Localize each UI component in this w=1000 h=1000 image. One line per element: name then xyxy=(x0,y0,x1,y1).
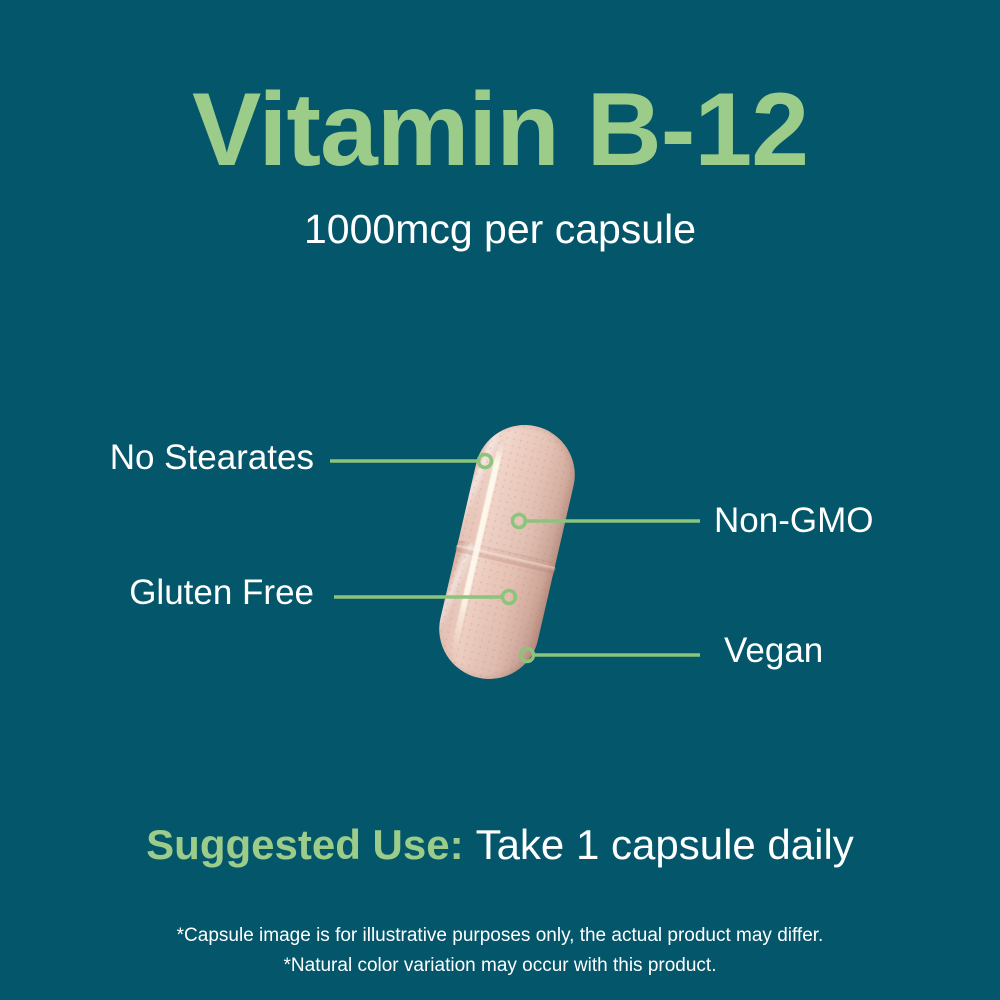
capsule-graphic xyxy=(429,415,584,689)
callout-label-vegan: Vegan xyxy=(724,633,823,668)
product-dosage-subtitle: 1000mcg per capsule xyxy=(0,206,1000,253)
disclaimer-color-variation: *Natural color variation may occur with … xyxy=(0,956,1000,975)
suggested-use: Suggested Use:Take 1 capsule daily xyxy=(0,824,1000,866)
disclaimer-illustrative: *Capsule image is for illustrative purpo… xyxy=(0,926,1000,945)
suggested-use-value: Take 1 capsule daily xyxy=(476,821,854,868)
callout-label-no-stearates: No Stearates xyxy=(78,440,314,475)
callout-label-non-gmo: Non-GMO xyxy=(714,503,873,538)
capsule-illustration xyxy=(435,415,580,690)
suggested-use-label: Suggested Use: xyxy=(146,821,463,868)
product-infographic: Vitamin B-12 1000mcg per capsule No Stea… xyxy=(0,0,1000,1000)
callout-label-gluten-free: Gluten Free xyxy=(107,575,314,610)
page-title: Vitamin B-12 xyxy=(0,78,1000,182)
